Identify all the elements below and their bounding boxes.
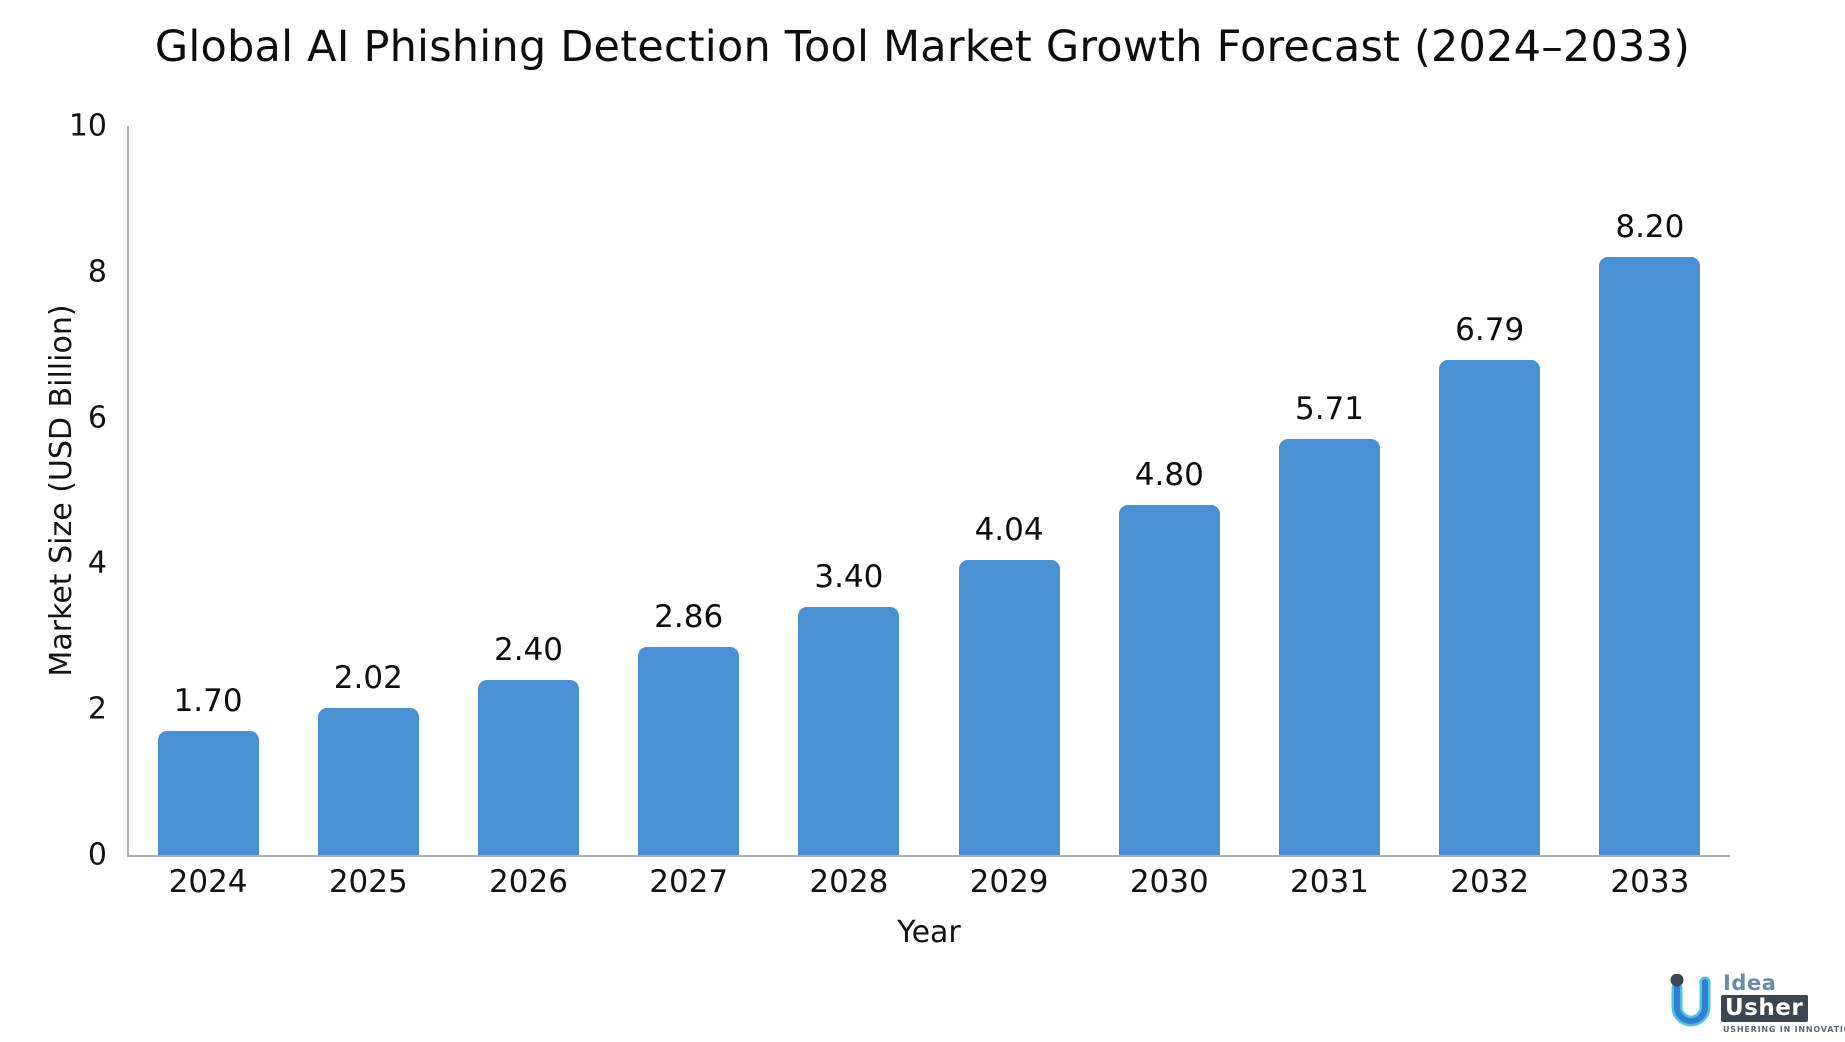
- logo-word-idea: Idea: [1723, 972, 1835, 994]
- bar[interactable]: [318, 708, 419, 855]
- x-axis-tick-label: 2033: [1610, 864, 1689, 900]
- y-axis-tick-label: 2: [0, 692, 107, 727]
- x-axis-tick-label: 2031: [1290, 864, 1369, 900]
- logo-word-usher-box: Usher: [1721, 995, 1808, 1022]
- y-axis-tick-label: 8: [0, 254, 107, 289]
- bar[interactable]: [1119, 505, 1220, 855]
- x-axis-tick-label: 2025: [329, 864, 408, 900]
- bar[interactable]: [158, 731, 259, 855]
- x-axis-tick-label: 2029: [970, 864, 1049, 900]
- bar-value-label: 4.80: [1135, 457, 1204, 493]
- x-axis-tick-label: 2027: [649, 864, 728, 900]
- bar-group: 1.702024: [158, 126, 259, 855]
- x-axis-spine: [128, 855, 1730, 857]
- bar[interactable]: [1279, 439, 1380, 855]
- idea-usher-wordmark: Idea Usher USHERING IN INNOVATION: [1721, 972, 1835, 1034]
- plot-area: 1.7020242.0220252.4020262.8620273.402028…: [128, 126, 1730, 855]
- bar-group: 8.202033: [1599, 126, 1700, 855]
- bar-group: 5.712031: [1279, 126, 1380, 855]
- x-axis-tick-label: 2030: [1130, 864, 1209, 900]
- chart-figure: Global AI Phishing Detection Tool Market…: [0, 0, 1845, 1042]
- logo-word-usher: Usher: [1725, 995, 1803, 1021]
- logo-tagline: USHERING IN INNOVATION: [1723, 1025, 1835, 1034]
- bar-value-label: 2.40: [494, 632, 563, 668]
- bar[interactable]: [478, 680, 579, 855]
- bar-value-label: 2.02: [334, 660, 403, 696]
- bar-group: 4.042029: [959, 126, 1060, 855]
- bar-group: 4.802030: [1119, 126, 1220, 855]
- y-axis-title: Market Size (USD Billion): [44, 126, 79, 855]
- bar-group: 2.862027: [638, 126, 739, 855]
- y-axis-tick-label: 4: [0, 546, 107, 581]
- bar[interactable]: [959, 560, 1060, 855]
- y-axis-tick-label: 6: [0, 400, 107, 435]
- x-axis-title: Year: [128, 915, 1730, 950]
- bar[interactable]: [638, 647, 739, 855]
- idea-usher-watermark: Idea Usher USHERING IN INNOVATION: [1663, 972, 1835, 1036]
- bar-value-label: 6.79: [1455, 312, 1524, 348]
- bar-group: 2.022025: [318, 126, 419, 855]
- bar-value-label: 4.04: [975, 512, 1044, 548]
- idea-usher-mark-icon: [1663, 974, 1719, 1028]
- x-axis-tick-label: 2026: [489, 864, 568, 900]
- x-axis-tick-label: 2028: [809, 864, 888, 900]
- bar-value-label: 5.71: [1295, 391, 1364, 427]
- bar-group: 3.402028: [798, 126, 899, 855]
- bar[interactable]: [798, 607, 899, 855]
- bar-value-label: 8.20: [1615, 209, 1684, 245]
- bar-value-label: 2.86: [654, 599, 723, 635]
- bar-group: 2.402026: [478, 126, 579, 855]
- bar[interactable]: [1439, 360, 1540, 855]
- bar-value-label: 3.40: [814, 559, 883, 595]
- bar-group: 6.792032: [1439, 126, 1540, 855]
- x-axis-tick-label: 2024: [169, 864, 248, 900]
- bar[interactable]: [1599, 257, 1700, 855]
- bar-value-label: 1.70: [174, 683, 243, 719]
- y-axis-tick-label: 10: [0, 109, 107, 144]
- y-axis-tick-label: 0: [0, 838, 107, 873]
- x-axis-tick-label: 2032: [1450, 864, 1529, 900]
- chart-title: Global AI Phishing Detection Tool Market…: [0, 22, 1845, 72]
